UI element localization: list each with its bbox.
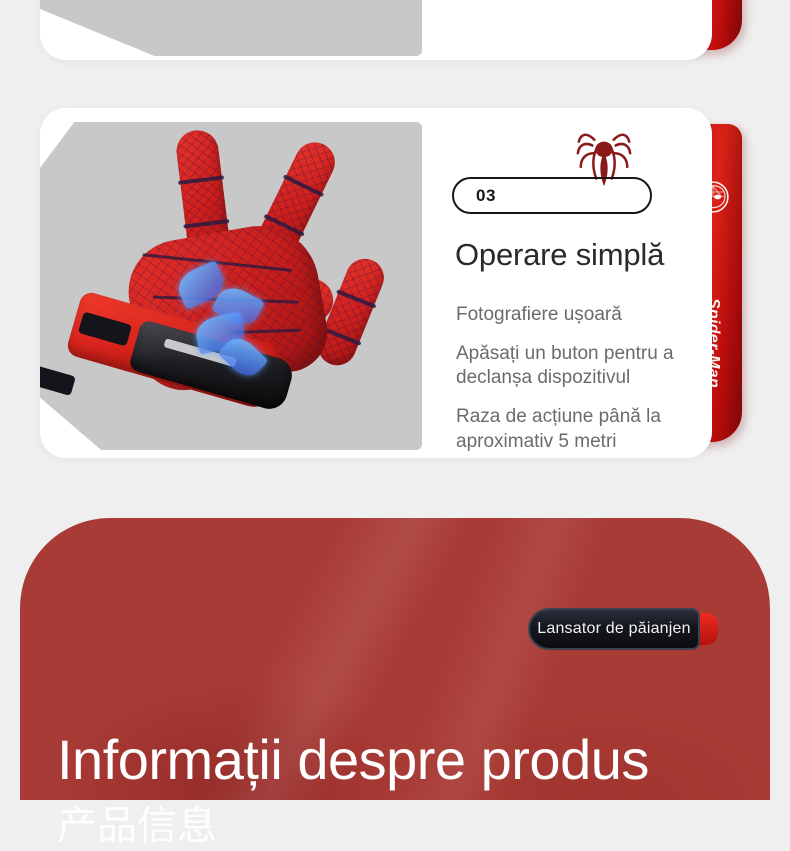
web-launcher-strap (40, 364, 76, 396)
product-info-title: Informații despre produs (57, 727, 649, 792)
main-card-bullet-list: Fotografiere ușoară Apăsați un buton pen… (456, 303, 688, 468)
step-number-badge: 03 (452, 177, 652, 214)
glove-finger-band (178, 175, 224, 185)
glove-finger-band (283, 174, 324, 197)
bullet-item: Fotografiere ușoară (456, 303, 688, 328)
launcher-badge[interactable]: Lansator de păianjen (528, 608, 700, 650)
launcher-badge-label: Lansator de păianjen (537, 620, 690, 638)
glove-finger-band (183, 219, 229, 229)
main-card-product-photo (40, 122, 422, 450)
main-card-glove-illustration (40, 122, 422, 450)
product-info-subtitle: 产品信息 (57, 793, 217, 851)
bullet-item: Apăsați un buton pentru a declanșa dispo… (456, 342, 688, 391)
web-projectile-burst (172, 262, 276, 382)
main-card-heading: Operare simplă (455, 237, 664, 273)
bullet-item: Raza de acțiune până la aproximativ 5 me… (456, 405, 688, 454)
glove-finger-band (336, 289, 376, 308)
step-number-value: 03 (476, 186, 496, 206)
